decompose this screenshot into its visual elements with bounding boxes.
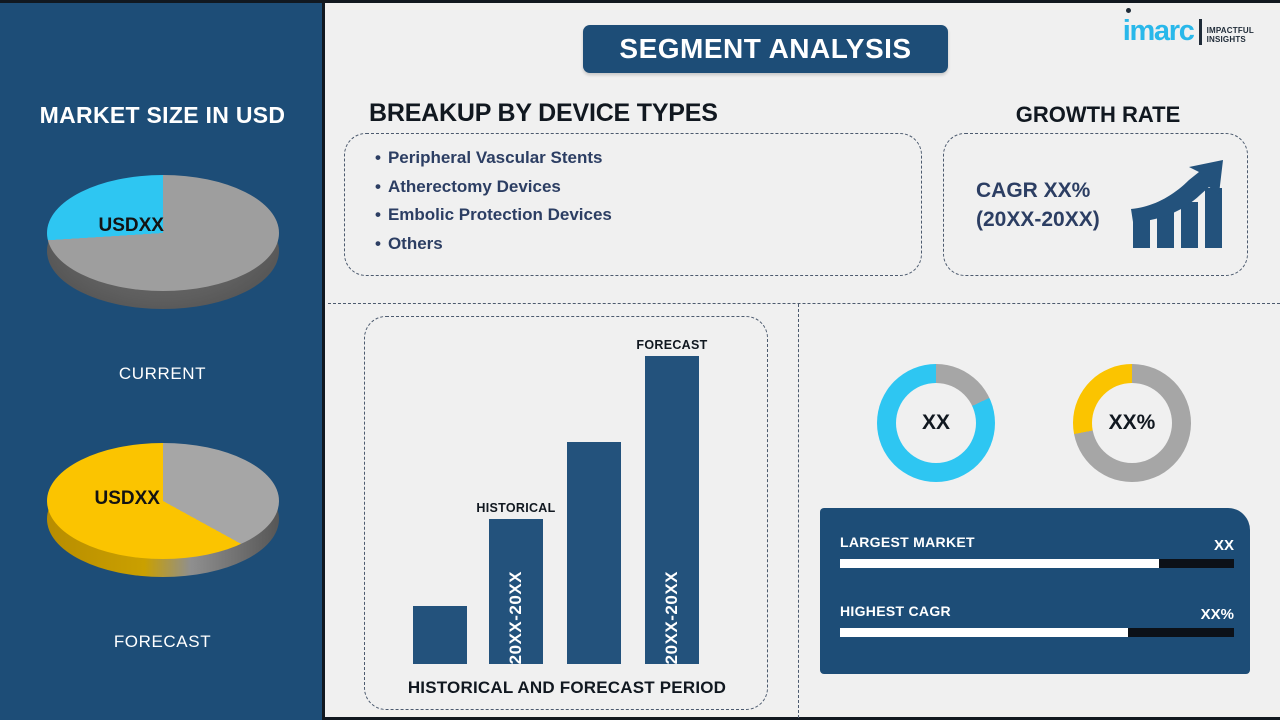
growth-rate-title: GROWTH RATE bbox=[943, 102, 1253, 128]
donut-1-value: XX bbox=[896, 383, 976, 463]
sidebar: MARKET SIZE IN USD USDXX CURRENT USDXX F… bbox=[0, 3, 325, 720]
highest-cagr-value: XX% bbox=[1201, 606, 1234, 623]
historical-forecast-chart-card: HISTORICAL 20XX-20XX FORECAST 20XX-20XX … bbox=[364, 316, 768, 710]
breakup-section-title: BREAKUP BY DEVICE TYPES bbox=[369, 99, 718, 128]
growth-rate-card: CAGR XX% (20XX-20XX) bbox=[943, 133, 1248, 276]
pie-current-caption: CURRENT bbox=[0, 364, 325, 384]
bar-0 bbox=[413, 606, 467, 664]
pie-forecast-surface bbox=[47, 443, 279, 559]
infographic-root: MARKET SIZE IN USD USDXX CURRENT USDXX F… bbox=[0, 0, 1280, 720]
bar-3-top-label: FORECAST bbox=[617, 338, 727, 352]
largest-market-progress-track bbox=[840, 559, 1234, 568]
pie-chart-current: USDXX bbox=[0, 175, 325, 327]
breakup-list: Peripheral Vascular Stents Atherectomy D… bbox=[375, 144, 612, 258]
highest-cagr-progress-track bbox=[840, 628, 1234, 637]
imarc-tagline-line2: INSIGHTS bbox=[1207, 36, 1254, 44]
stat-row-highest-cagr: HIGHEST CAGR XX% bbox=[840, 603, 1234, 637]
horizontal-divider bbox=[328, 303, 1280, 304]
growth-arrow-chart-icon bbox=[1127, 154, 1232, 254]
list-item: Embolic Protection Devices bbox=[375, 201, 612, 230]
donut-chart-2: XX% bbox=[1063, 354, 1201, 492]
highest-cagr-progress-fill bbox=[840, 628, 1128, 637]
pie-current-label: USDXX bbox=[99, 215, 164, 237]
cagr-line-1: CAGR XX% bbox=[976, 176, 1100, 205]
imarc-tagline: IMPACTFUL INSIGHTS bbox=[1207, 27, 1254, 46]
breakup-card: Peripheral Vascular Stents Atherectomy D… bbox=[344, 133, 922, 276]
bar-2 bbox=[567, 442, 621, 664]
list-item: Atherectomy Devices bbox=[375, 173, 612, 202]
largest-market-label: LARGEST MARKET bbox=[840, 534, 975, 550]
page-title: SEGMENT ANALYSIS bbox=[583, 25, 948, 73]
bar-1-top-label: HISTORICAL bbox=[461, 501, 571, 515]
bar-3-period-label: 20XX-20XX bbox=[662, 557, 682, 664]
vertical-divider bbox=[798, 304, 799, 720]
stats-panel: LARGEST MARKET XX HIGHEST CAGR XX% bbox=[820, 508, 1250, 674]
donut-chart-1: XX bbox=[877, 364, 995, 482]
bar-1-period-label: 20XX-20XX bbox=[506, 557, 526, 664]
largest-market-value: XX bbox=[1214, 537, 1234, 554]
logo-divider-bar bbox=[1199, 19, 1202, 45]
bar-1: 20XX-20XX bbox=[489, 519, 543, 664]
list-item: Peripheral Vascular Stents bbox=[375, 144, 612, 173]
list-item: Others bbox=[375, 230, 612, 259]
imarc-dot-icon bbox=[1126, 8, 1131, 13]
imarc-wordmark: imarc bbox=[1123, 17, 1194, 46]
stat-row-largest-market: LARGEST MARKET XX bbox=[840, 534, 1234, 568]
bar-3: 20XX-20XX bbox=[645, 356, 699, 664]
pie-forecast-label: USDXX bbox=[95, 488, 160, 510]
pie-forecast-caption: FORECAST bbox=[0, 632, 325, 652]
highest-cagr-label: HIGHEST CAGR bbox=[840, 603, 951, 619]
cagr-line-2: (20XX-20XX) bbox=[976, 205, 1100, 234]
largest-market-progress-fill bbox=[840, 559, 1159, 568]
cagr-text: CAGR XX% (20XX-20XX) bbox=[976, 176, 1100, 234]
donut-2-value: XX% bbox=[1092, 383, 1172, 463]
bar-chart: HISTORICAL 20XX-20XX FORECAST 20XX-20XX … bbox=[365, 317, 769, 711]
sidebar-title: MARKET SIZE IN USD bbox=[0, 102, 325, 129]
imarc-logo[interactable]: imarc IMPACTFUL INSIGHTS bbox=[1123, 17, 1254, 46]
pie-chart-forecast: USDXX bbox=[0, 443, 325, 595]
chart-x-axis-label: HISTORICAL AND FORECAST PERIOD bbox=[365, 678, 769, 698]
